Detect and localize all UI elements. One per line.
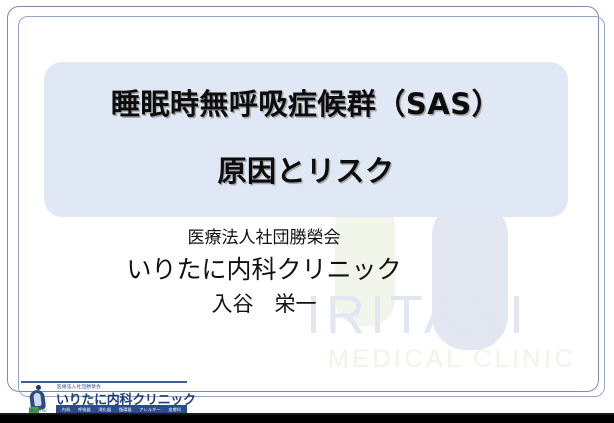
logo-department-item: 皮膚科	[168, 407, 181, 413]
logo-divider	[21, 381, 187, 383]
affiliation-organization: 医療法人社団勝榮会	[44, 226, 484, 250]
affiliation-presenter: 入谷 栄一	[44, 289, 484, 319]
page-subtitle: 原因とリスク	[44, 148, 568, 190]
logo-department-item: 呼吸器	[78, 407, 91, 413]
logo-department-item: アレルギー	[139, 407, 160, 413]
logo-department-item: 消化器	[98, 407, 111, 413]
logo-department-item: 循環器	[119, 407, 132, 413]
slide-canvas: IRITANI MEDICAL CLINIC 睡眠時無呼吸症候群（SAS） 原因…	[0, 0, 614, 423]
page-title: 睡眠時無呼吸症候群（SAS）	[44, 81, 568, 123]
logo-department-item: 内科	[62, 407, 71, 413]
logo-figure-highlight	[33, 393, 42, 407]
title-card: 睡眠時無呼吸症候群（SAS） 原因とリスク	[44, 62, 568, 217]
footer-band	[0, 415, 614, 423]
clinic-logo: IRITANI 医療法人社団勝榮会 いりたに内科クリニック 内科 呼吸器 消化器…	[21, 381, 187, 415]
affiliation-clinic: いりたに内科クリニック	[44, 252, 484, 288]
watermark-tagline-text: MEDICAL CLINIC	[328, 345, 576, 374]
affiliation-block: 医療法人社団勝榮会 いりたに内科クリニック 入谷 栄一	[44, 226, 484, 319]
